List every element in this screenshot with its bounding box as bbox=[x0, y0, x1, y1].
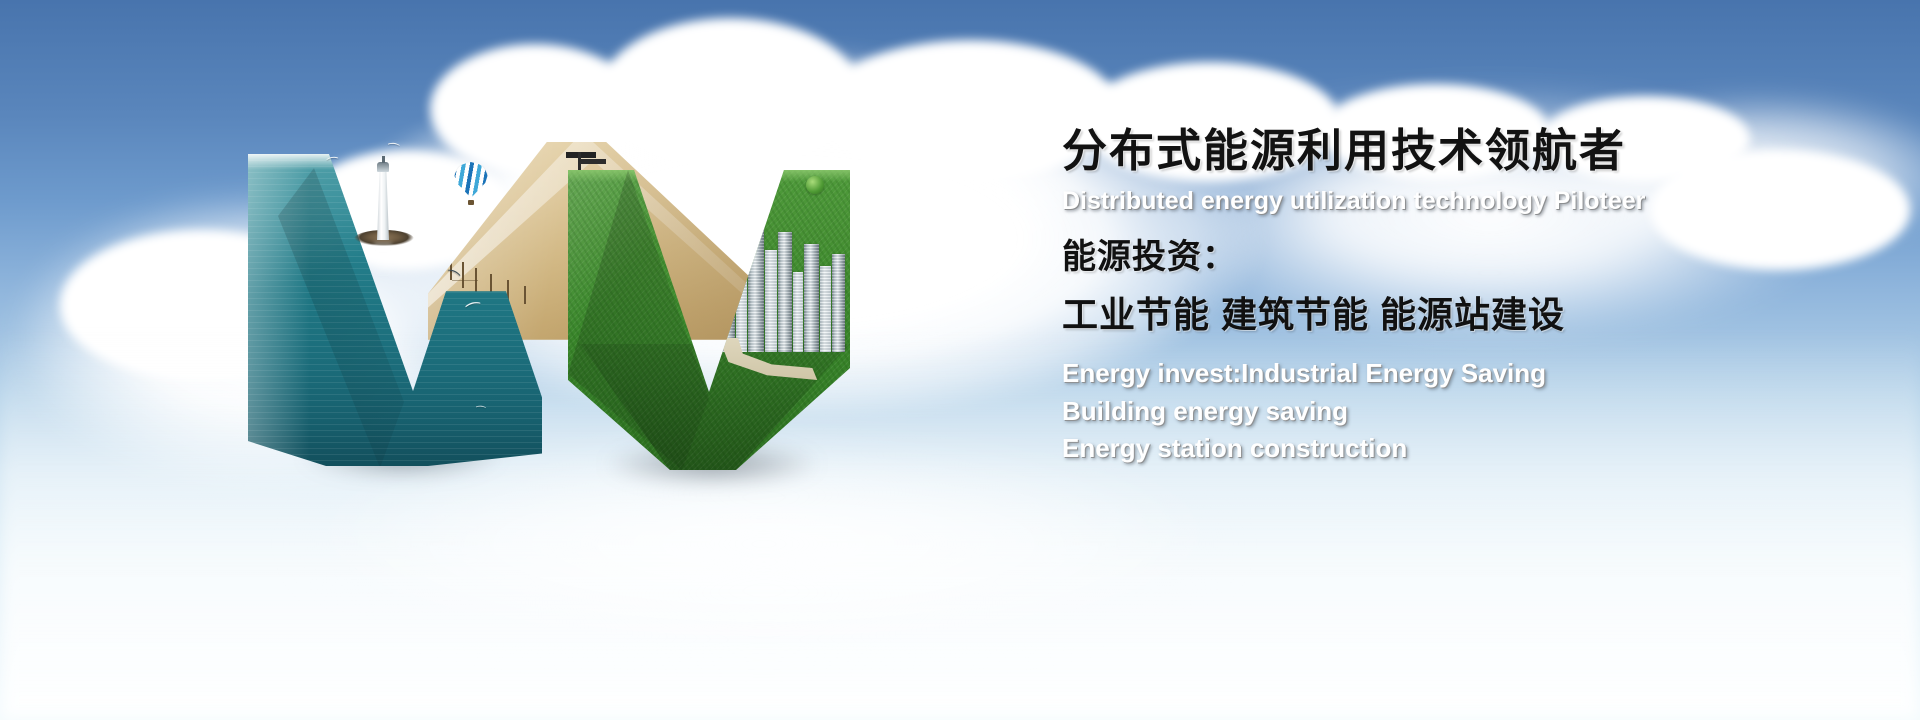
signpost-arm-upper bbox=[566, 152, 596, 158]
hot-air-balloon-icon bbox=[454, 162, 488, 208]
seagull-icon: ⁀ bbox=[387, 143, 399, 157]
lighthouse-antenna bbox=[382, 156, 385, 163]
building-icon bbox=[793, 272, 803, 352]
balloon-basket bbox=[468, 200, 474, 205]
building-icon bbox=[778, 232, 792, 352]
lighthouse-lamp-room bbox=[377, 162, 389, 172]
english-service-line: Energy invest:Industrial Energy Saving bbox=[1062, 355, 1882, 393]
grass-top-edge bbox=[550, 170, 850, 182]
english-service-line: Energy station construction bbox=[1062, 430, 1882, 468]
lighthouse-tower bbox=[377, 170, 389, 240]
building-icon bbox=[765, 250, 777, 352]
fence-post bbox=[524, 286, 526, 304]
banner-text-block: 分布式能源利用技术领航者 Distributed energy utilizat… bbox=[1062, 126, 1882, 468]
seagull-icon: ⁀ bbox=[476, 408, 486, 420]
lighthouse-reflection bbox=[374, 242, 392, 278]
hero-banner: · 秋 bbox=[0, 0, 1920, 720]
section-services-chinese: 工业节能 建筑节能 能源站建设 bbox=[1062, 292, 1882, 337]
headline-chinese: 分布式能源利用技术领航者 bbox=[1062, 126, 1882, 176]
balloon-envelope bbox=[454, 162, 488, 198]
english-service-line: Building energy saving bbox=[1062, 393, 1882, 431]
building-icon bbox=[804, 244, 819, 352]
building-icon bbox=[748, 222, 764, 352]
signpost-arm-lower bbox=[580, 159, 606, 164]
w-letter-artwork: · 秋 bbox=[232, 136, 842, 488]
lighthouse-icon bbox=[372, 156, 394, 240]
ocean-top-edge bbox=[248, 154, 548, 170]
building-icon bbox=[832, 254, 845, 352]
section-label-chinese: 能源投资： bbox=[1062, 236, 1882, 279]
english-service-list: Energy invest:Industrial Energy Saving B… bbox=[1062, 355, 1882, 468]
seagull-icon: ⁀ bbox=[327, 157, 339, 171]
headline-english: Distributed energy utilization technolog… bbox=[1062, 186, 1882, 216]
building-icon bbox=[820, 266, 831, 352]
fence-post bbox=[462, 262, 464, 288]
